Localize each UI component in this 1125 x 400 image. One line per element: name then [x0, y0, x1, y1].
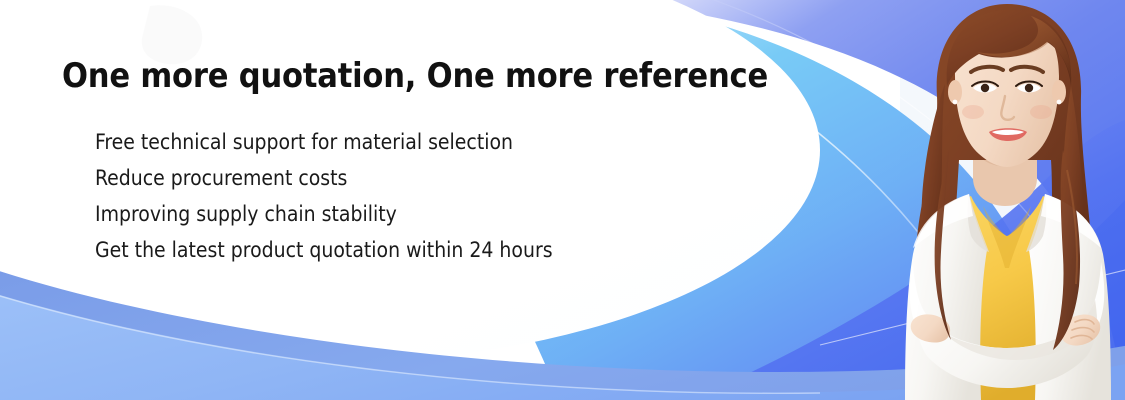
- pupil-left: [981, 84, 989, 92]
- businesswoman-photo: [885, 0, 1125, 400]
- blush-left: [962, 105, 984, 119]
- pupil-right: [1025, 84, 1033, 92]
- earring-right: [1057, 100, 1062, 105]
- blush-right: [1030, 105, 1052, 119]
- earring-left: [953, 100, 958, 105]
- promo-banner: One more quotation, One more reference F…: [0, 0, 1125, 400]
